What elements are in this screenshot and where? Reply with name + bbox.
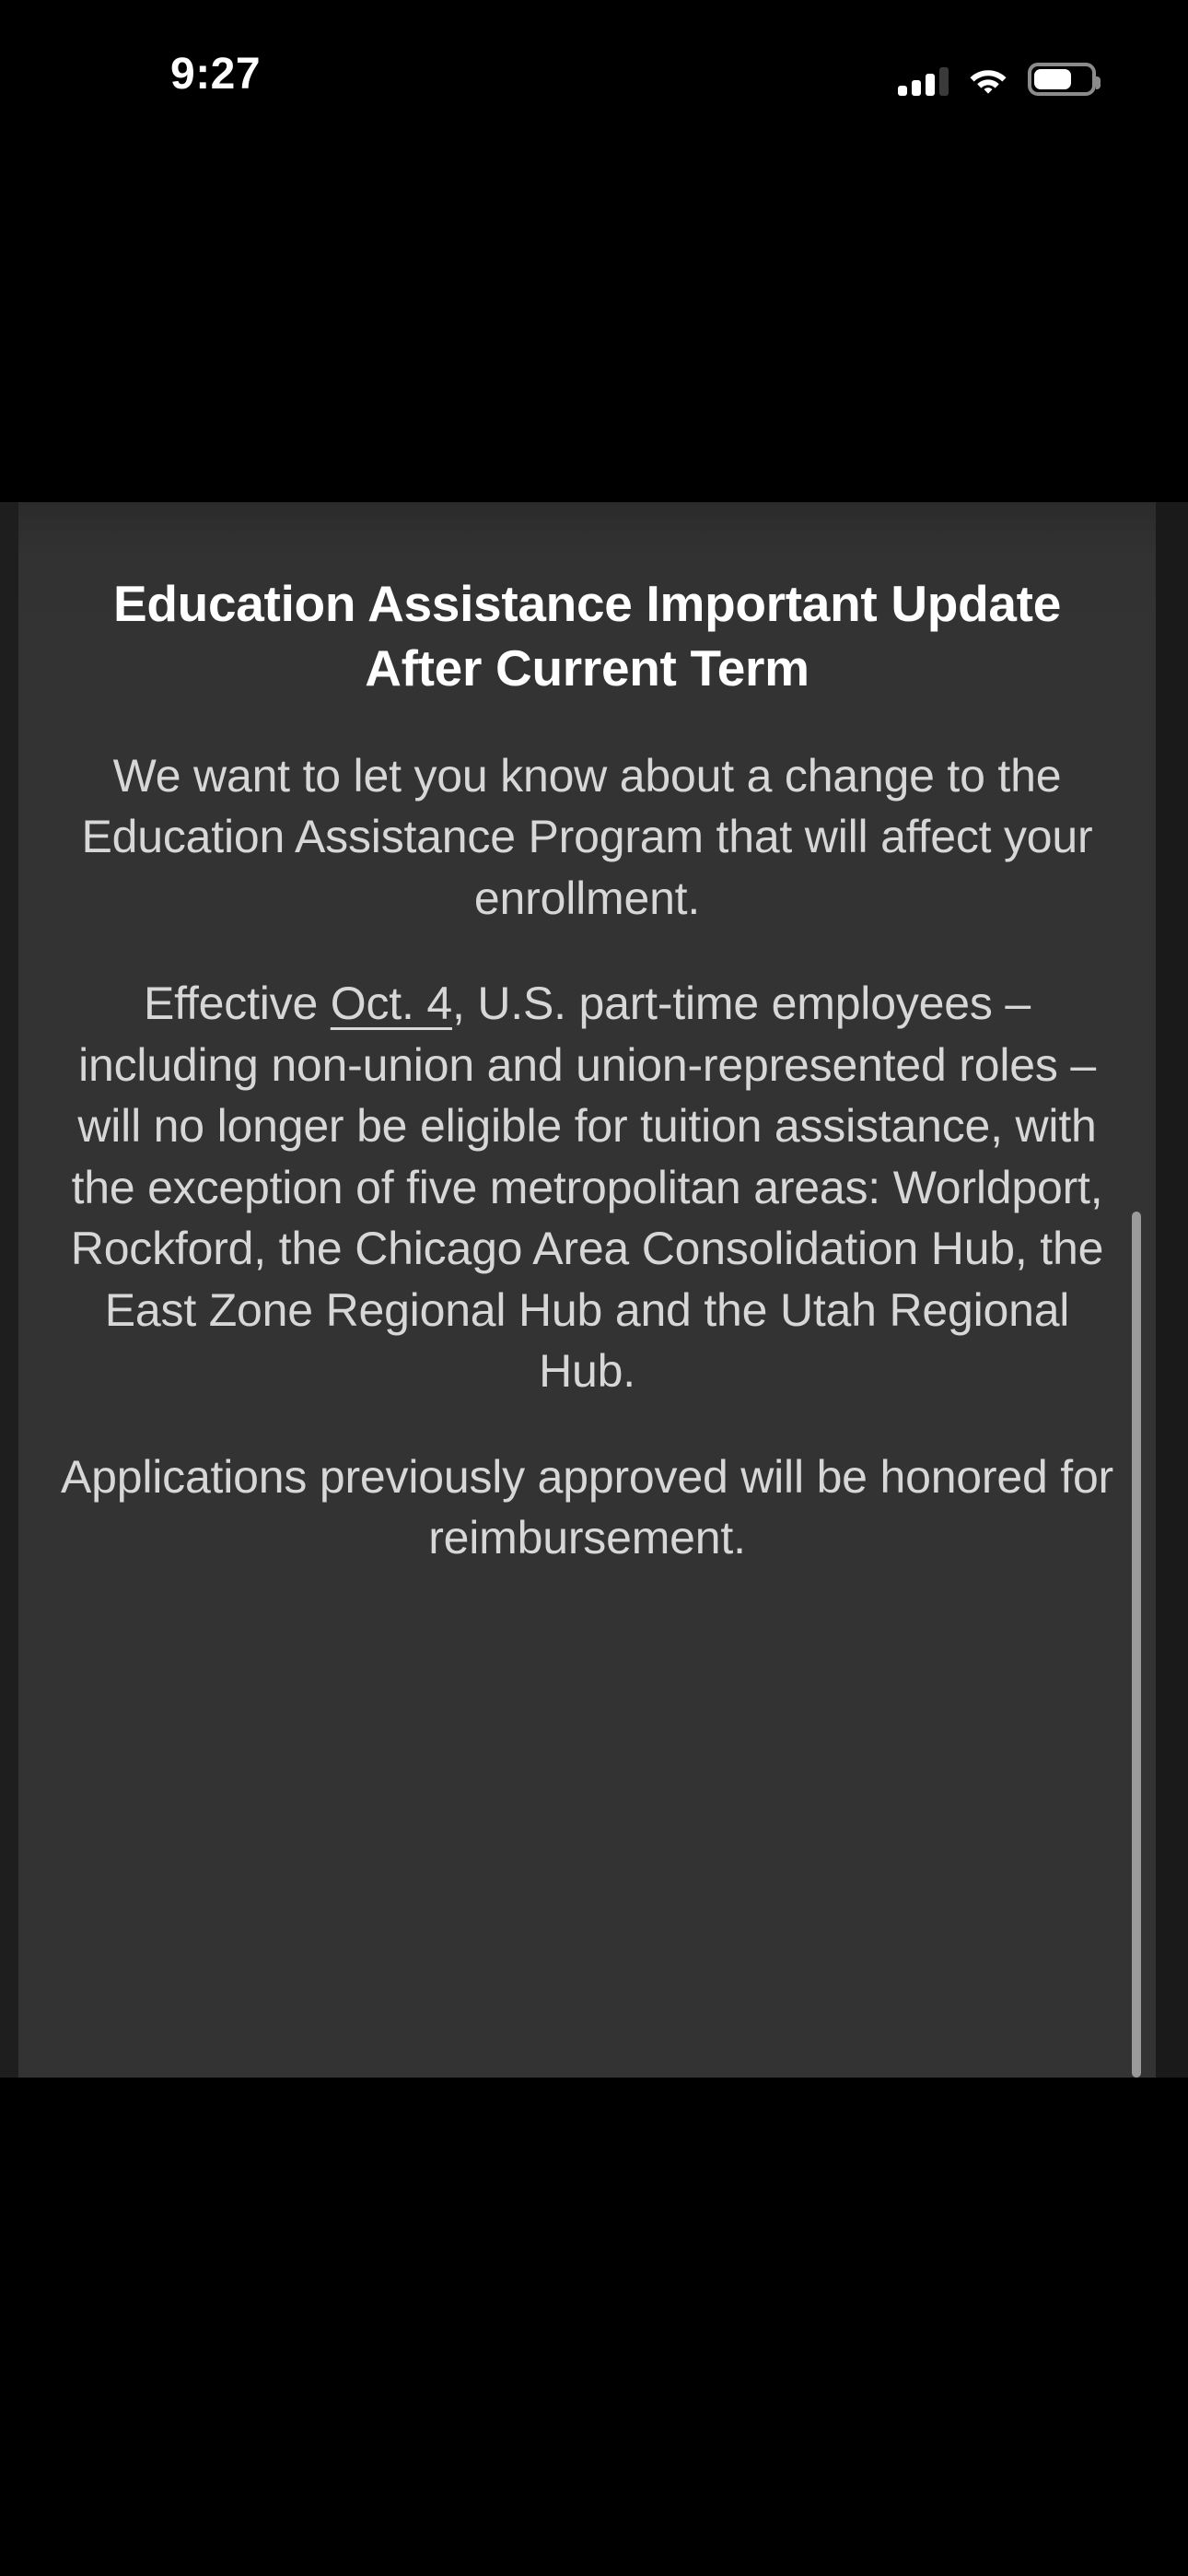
vertical-scrollbar[interactable] <box>1132 502 1141 2078</box>
battery-fill-level <box>1034 69 1071 89</box>
wifi-icon <box>969 66 1007 96</box>
cellular-signal-icon <box>898 66 949 96</box>
status-bar: 9:27 <box>0 0 1188 111</box>
cellular-bar-1 <box>898 86 907 96</box>
effective-suffix: , U.S. part-time employees – including n… <box>71 978 1103 1397</box>
status-bar-clock: 9:27 <box>170 53 336 97</box>
card-left-gutter <box>0 502 18 2078</box>
effective-date-underlined: Oct. 4 <box>331 978 452 1029</box>
paragraph-prior-approvals: Applications previously approved will be… <box>53 1446 1121 1569</box>
cellular-bar-4 <box>939 67 949 96</box>
battery-icon <box>1028 63 1096 96</box>
paragraph-effective-change: Effective Oct. 4, U.S. part-time employe… <box>53 973 1121 1402</box>
content-card: Education Assistance Important Update Af… <box>18 502 1156 2078</box>
page-title: Education Assistance Important Update Af… <box>53 571 1121 701</box>
cellular-bar-3 <box>926 74 935 96</box>
cellular-bar-2 <box>912 80 921 96</box>
content-card-container: Education Assistance Important Update Af… <box>0 502 1188 2078</box>
effective-prefix: Effective <box>144 978 331 1029</box>
document-body: Education Assistance Important Update Af… <box>18 502 1156 1569</box>
paragraph-intro: We want to let you know about a change t… <box>53 745 1121 930</box>
vertical-scroll-thumb[interactable] <box>1132 1212 1141 2078</box>
status-bar-indicators <box>898 55 1096 96</box>
